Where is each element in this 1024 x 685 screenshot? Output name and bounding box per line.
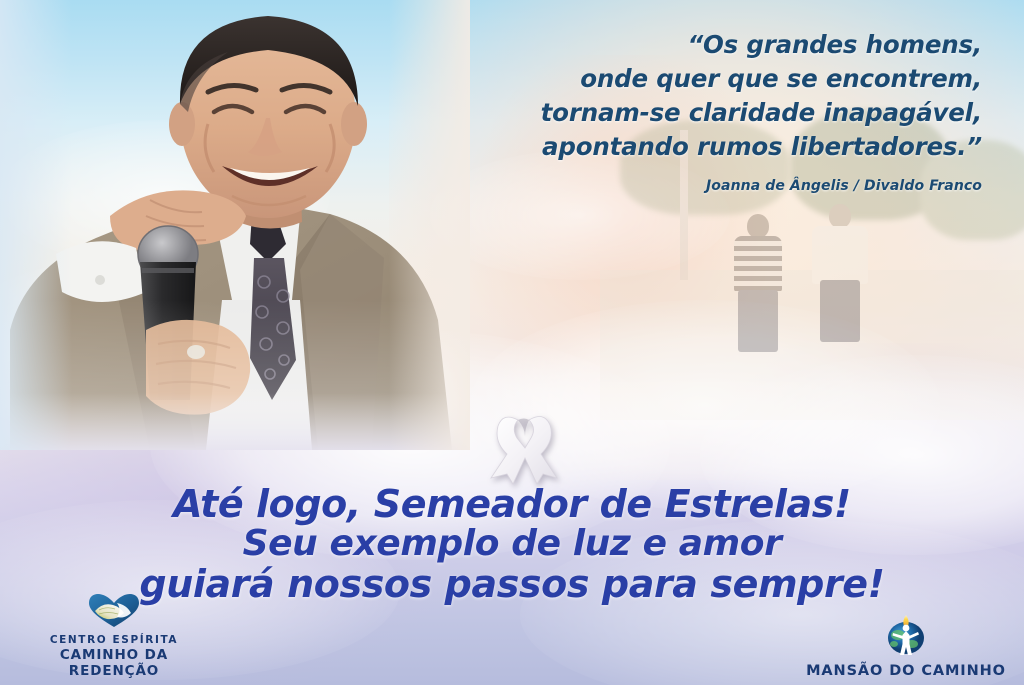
heart-hands-icon bbox=[87, 593, 141, 634]
headline-line-2: Seu exemplo de luz e amor bbox=[0, 524, 1024, 564]
photo-person-legs bbox=[738, 290, 778, 352]
logo-left-line2: CAMINHO DA REDENÇÃO bbox=[14, 647, 214, 679]
logo-mansao-do-caminho[interactable]: MANSÃO DO CAMINHO bbox=[800, 611, 1012, 679]
quote-line-3: tornam-se claridade inapagável, bbox=[422, 96, 982, 130]
mourning-ribbon-icon bbox=[487, 406, 561, 486]
photo-person-head bbox=[747, 214, 769, 238]
quote-attribution: Joanna de Ângelis / Divaldo Franco bbox=[422, 178, 982, 194]
quote-line-1: “Os grandes homens, bbox=[422, 28, 982, 62]
photo-person-torso bbox=[734, 236, 782, 292]
logo-left-text: CENTRO ESPÍRITA CAMINHO DA REDENÇÃO bbox=[14, 634, 214, 679]
photo-person-head bbox=[829, 204, 851, 228]
memorial-banner: “Os grandes homens, onde quer que se enc… bbox=[0, 0, 1024, 685]
portrait-divaldo-franco bbox=[0, 0, 470, 450]
headline-line-1: Até logo, Semeador de Estrelas! bbox=[0, 484, 1024, 524]
globe-figure-flame-icon bbox=[882, 611, 930, 662]
logo-centro-espirita[interactable]: CENTRO ESPÍRITA CAMINHO DA REDENÇÃO bbox=[14, 593, 214, 679]
photo-person-striped bbox=[728, 214, 788, 354]
photo-person-legs bbox=[820, 280, 860, 342]
photo-person-white-shirt bbox=[808, 204, 872, 354]
logo-right-line2: MANSÃO DO CAMINHO bbox=[806, 663, 1006, 679]
headline-block: Até logo, Semeador de Estrelas! Seu exem… bbox=[0, 484, 1024, 604]
logo-right-text: MANSÃO DO CAMINHO bbox=[806, 662, 1006, 679]
quote-line-2: onde quer que se encontrem, bbox=[422, 62, 982, 96]
quote-line-4: apontando rumos libertadores.” bbox=[422, 130, 982, 164]
quote-block: “Os grandes homens, onde quer que se enc… bbox=[422, 28, 982, 194]
photo-person-torso bbox=[812, 226, 868, 284]
logo-left-line1: CENTRO ESPÍRITA bbox=[14, 634, 214, 646]
